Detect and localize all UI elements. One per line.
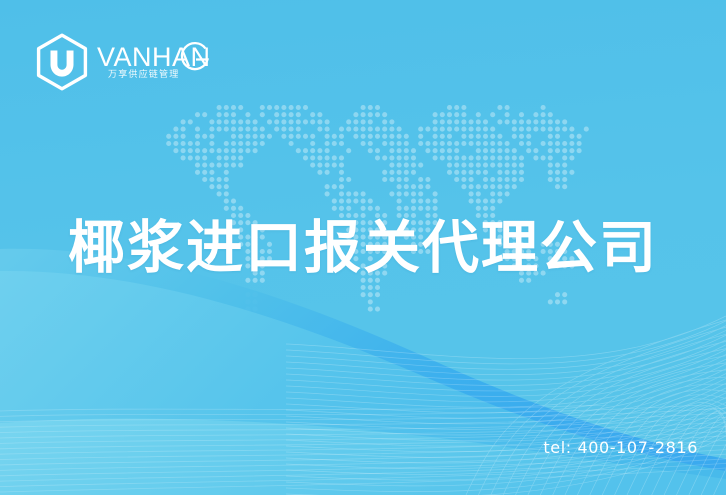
vanhang-hexagon-icon	[33, 33, 91, 91]
brand-wordmark: VANHAN 万享供应链管理	[97, 39, 209, 85]
dotted-world-map	[158, 104, 620, 316]
wordmark-subtitle: 万享供应链管理	[108, 70, 179, 81]
promo-banner: VANHAN 万享供应链管理 椰浆进口报关代理公司 tel: 400-107-2…	[0, 0, 726, 495]
contact-phone: tel: 400-107-2816	[543, 438, 698, 458]
brand-logo[interactable]: VANHAN 万享供应链管理	[33, 33, 209, 91]
wordmark-g-icon	[179, 39, 211, 75]
page-title: 椰浆进口报关代理公司	[0, 214, 726, 282]
